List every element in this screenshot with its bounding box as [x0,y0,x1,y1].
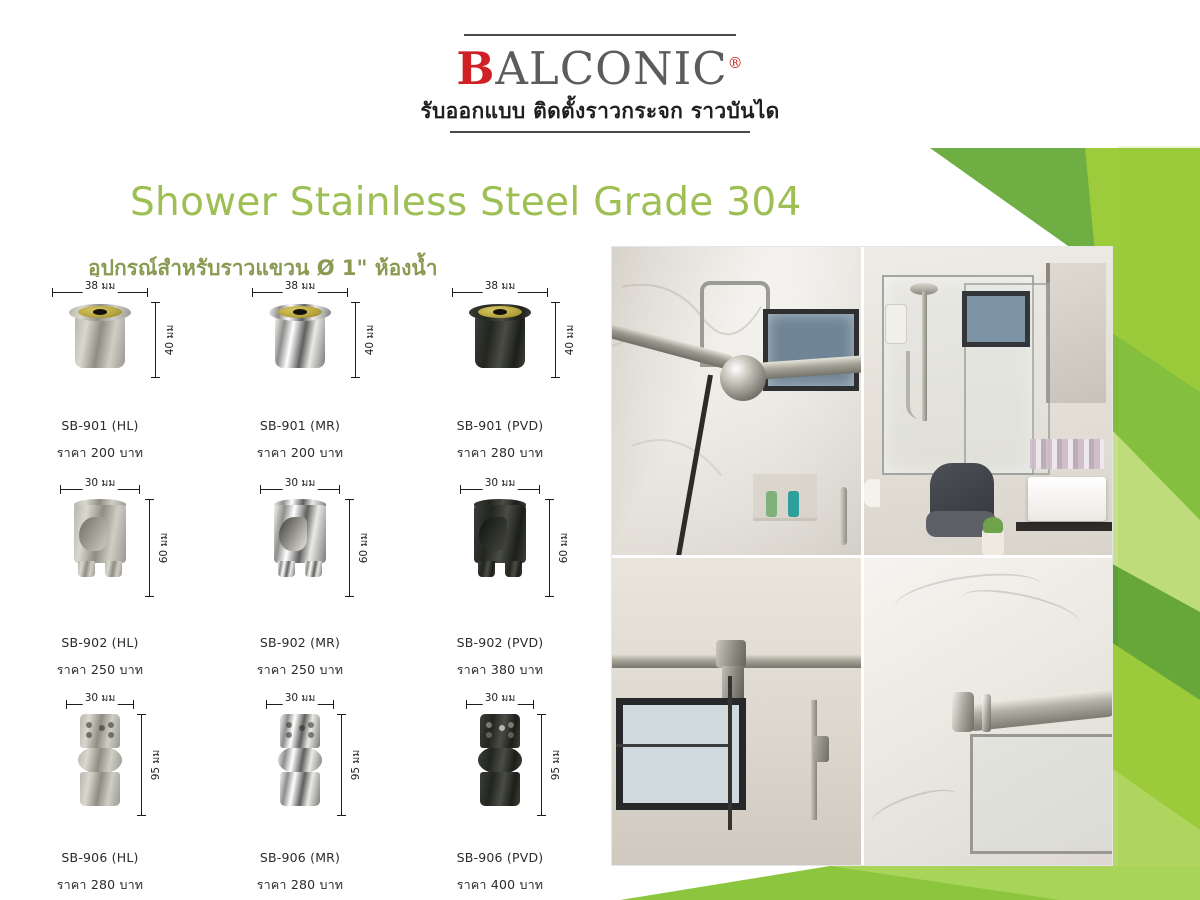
registered-mark-icon: ® [728,54,744,72]
dimension-width: 38 มม [452,288,548,297]
door-handle [840,487,847,545]
window-mullion [616,744,732,747]
product-image-sb906-mr [280,714,320,806]
ball-joint-fitting [720,355,766,401]
product-image-sb902-hl [74,499,126,563]
product-card[interactable]: 38 มม 40 มม SB-901 (MR) ราคา 200 บาท [200,288,400,463]
dimension-height-label: 95 มม [547,750,564,781]
product-figure: 30 มม 95 มม [210,700,390,830]
toilet [864,479,880,507]
product-figure: 30 มม 95 มม [410,700,590,830]
photo-wall-flange-closeup [864,558,1113,866]
shower-hose [906,351,926,419]
product-price: ราคา 200 บาท [57,443,144,463]
glass-panel-edge [728,676,732,830]
product-image-sb906-pvd [480,714,520,806]
product-figure: 30 มม 60 มม [210,485,390,613]
dimension-width: 30 มม [266,700,334,709]
bottle [788,491,799,517]
dimension-height: 95 มม [537,714,546,816]
product-figure: 38 มม 40 มม [210,288,390,408]
product-figure: 30 มม 60 มม [410,485,590,613]
dimension-width-label: 38 มม [283,277,318,294]
dimension-height: 60 มม [145,499,154,597]
dimension-height-label: 40 มม [361,325,378,356]
product-card[interactable]: 30 มม 95 มม SB-906 (PVD) ราคา 400 บาท [400,700,600,895]
catalog-page: BALCONIC® รับออกแบบ ติดตั้งราวกระจก ราวบ… [0,0,1200,900]
dimension-width-label: 30 มม [283,689,318,706]
dimension-width: 38 มม [252,288,348,297]
product-row: 38 มม 40 มม SB-901 (HL) ราคา 200 บาท [0,288,600,463]
brand-initial: B [456,42,495,95]
dimension-height: 95 มม [137,714,146,816]
dimension-width: 30 มม [260,485,340,494]
product-code: SB-901 (HL) [61,418,138,433]
toiletry-bottles [1030,439,1104,469]
dimension-height: 60 มม [345,499,354,597]
dimension-height-label: 60 มม [355,533,372,564]
water-heater [886,305,906,343]
product-card[interactable]: 38 มม 40 มม SB-901 (PVD) ราคา 280 บาท [400,288,600,463]
brand-tagline: รับออกแบบ ติดตั้งราวกระจก ราวบันได [0,95,1200,128]
product-price: ราคา 280 บาท [257,875,344,895]
product-image-sb902-pvd [474,499,526,563]
page-subtitle: อุปกรณ์สำหรับราวแขวน Ø 1" ห้องน้ำ [88,252,438,285]
dimension-width: 30 มม [66,700,134,709]
product-image-sb901-hl [69,304,131,368]
wall-flange [952,692,974,732]
product-figure: 38 มม 40 มม [410,288,590,408]
product-price: ราคา 280 บาท [457,443,544,463]
product-card[interactable]: 30 มม 60 มม SB-902 (PVD) ราค [400,485,600,680]
product-figure: 38 มม 40 มม [10,288,190,408]
product-card[interactable]: 30 มม 60 มม SB-902 (MR) ราคา [200,485,400,680]
product-code: SB-902 (PVD) [457,635,544,650]
washbasin [1028,477,1106,521]
glass-clamp [813,736,829,762]
product-card[interactable]: 38 มม 40 มม SB-901 (HL) ราคา 200 บาท [0,288,200,463]
product-code: SB-902 (MR) [260,635,340,650]
brand-wordmark: BALCONIC® [456,38,743,94]
installation-photo-collage [612,247,1112,865]
vanity-counter [1016,522,1112,531]
product-price: ราคา 250 บาท [57,660,144,680]
shower-niche [753,474,817,521]
product-price: ราคา 400 บาท [457,875,544,895]
product-grid: 38 มม 40 มม SB-901 (HL) ราคา 200 บาท [0,288,600,895]
glass-panel [970,734,1113,854]
logo-rule-bottom [450,131,750,133]
dimension-height: 40 มม [151,302,160,378]
product-price: ราคา 380 บาท [457,660,544,680]
product-code: SB-901 (MR) [260,418,340,433]
product-card[interactable]: 30 มม 60 มม SB-902 (HL) ราคา [0,485,200,680]
product-figure: 30 มม 60 มม [10,485,190,613]
product-card[interactable]: 30 มม 95 มม SB-906 (MR) ราคา 280 บาท [200,700,400,895]
dimension-height-label: 60 มม [555,533,572,564]
window [763,309,859,391]
dimension-width: 30 มม [60,485,140,494]
mirror [1046,263,1106,403]
product-code: SB-901 (PVD) [457,418,544,433]
dimension-width-label: 30 มม [483,689,518,706]
product-image-sb906-hl [80,714,120,806]
product-image-sb901-mr [269,304,331,368]
dimension-height: 40 มม [551,302,560,378]
product-row: 30 มม 95 มม SB-906 (HL) ราคา 280 บาท [0,700,600,895]
dimension-width-label: 30 มม [483,474,518,491]
product-code: SB-902 (HL) [61,635,138,650]
dimension-width-label: 30 มม [83,474,118,491]
dimension-height-label: 95 มม [347,750,364,781]
dimension-width-label: 30 มม [83,689,118,706]
window [616,698,746,810]
product-figure: 30 มม 95 มม [10,700,190,830]
brand-logo: BALCONIC® รับออกแบบ ติดตั้งราวกระจก ราวบ… [0,34,1200,133]
dimension-height: 40 มม [351,302,360,378]
tee-connector [716,640,746,668]
dimension-width-label: 38 มม [83,277,118,294]
dimension-height-label: 60 มม [155,533,172,564]
photo-bathroom-shower-enclosure [864,247,1113,555]
dimension-height: 95 มม [337,714,346,816]
dimension-width-label: 30 มม [283,474,318,491]
page-title: Shower Stainless Steel Grade 304 [130,180,802,225]
product-image-sb902-mr [274,499,326,563]
dimension-width-label: 38 มม [483,277,518,294]
product-card[interactable]: 30 มม 95 มม SB-906 (HL) ราคา 280 บาท [0,700,200,895]
product-price: ราคา 250 บาท [257,660,344,680]
flange-ring [982,694,991,732]
photo-rail-elbow-joint [612,247,861,555]
photo-rail-tee-fitting [612,558,861,866]
dimension-height: 60 มม [545,499,554,597]
bottle [766,491,777,517]
product-price: ราคา 280 บาท [57,875,144,895]
product-row: 30 มม 60 มม SB-902 (HL) ราคา [0,485,600,680]
dimension-height-label: 40 มม [161,325,178,356]
brand-name-rest: ALCONIC [495,42,727,95]
potted-plant [982,529,1004,555]
dimension-height-label: 40 มม [561,325,578,356]
dimension-width: 30 มม [460,485,540,494]
dimension-height-label: 95 มม [147,750,164,781]
product-image-sb901-pvd [469,304,531,368]
logo-rule-top [464,34,736,36]
product-code: SB-906 (HL) [61,850,138,865]
dimension-width: 38 มม [52,288,148,297]
window [962,291,1030,347]
product-code: SB-906 (MR) [260,850,340,865]
dimension-width: 30 มม [466,700,534,709]
product-code: SB-906 (PVD) [457,850,544,865]
marble-vein [867,782,961,836]
product-price: ราคา 200 บาท [257,443,344,463]
